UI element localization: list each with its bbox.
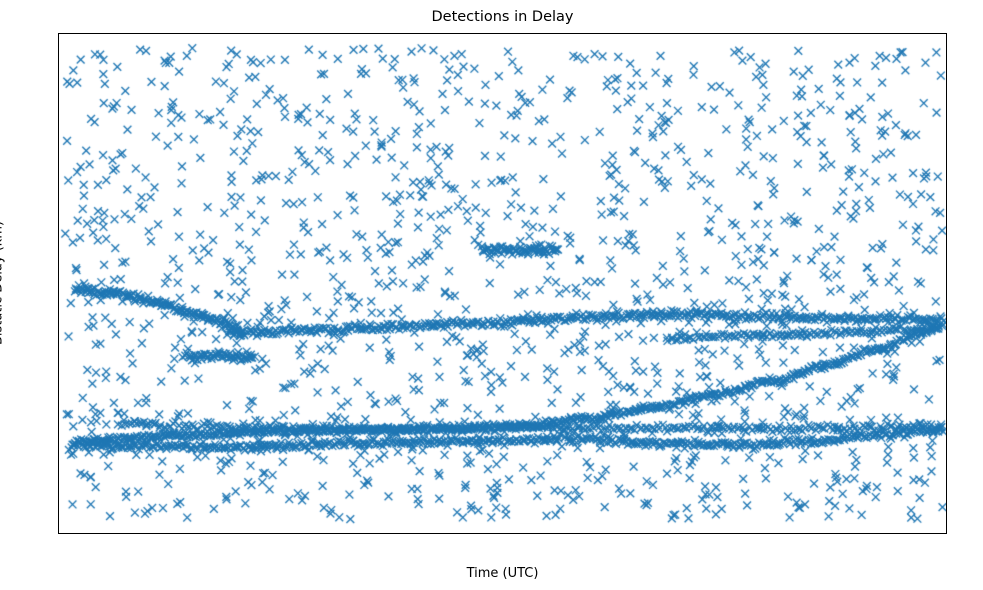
y-tick-60: 60 [58, 42, 59, 57]
x-tick-mark [254, 533, 255, 534]
y-tick-50: 50 [58, 121, 59, 136]
x-axis-label: Time (UTC) [58, 566, 947, 581]
x-tick-mark [579, 533, 580, 534]
y-tick-mark [58, 286, 59, 287]
y-tick-30: 30 [58, 279, 59, 294]
x-tick-mark [416, 533, 417, 534]
x-tick-mark [91, 533, 92, 534]
y-tick-mark [58, 522, 59, 523]
y-tick-0: 0 [58, 515, 59, 530]
y-tick-mark [58, 364, 59, 365]
y-tick-10: 10 [58, 436, 59, 451]
x-tick-5: 2025-04-07 00:59:00 [836, 533, 947, 534]
plot-area: 0102030405060 2025-04-07 00:54:002025-04… [58, 33, 947, 534]
y-tick-mark [58, 207, 59, 208]
x-tick-3: 2025-04-07 00:57:00 [510, 533, 648, 534]
x-tick-1: 2025-04-07 00:55:00 [185, 533, 323, 534]
x-tick-4: 2025-04-07 00:58:00 [673, 533, 811, 534]
y-tick-20: 20 [58, 357, 59, 372]
x-tick-mark [741, 533, 742, 534]
y-axis-label: Bistatic Delay (km) [0, 221, 6, 345]
y-tick-mark [58, 49, 59, 50]
x-tick-0: 2025-04-07 00:54:00 [58, 533, 161, 534]
matplotlib-figure: Detections in Delay 0102030405060 2025-0… [0, 0, 983, 590]
x-tick-2: 2025-04-07 00:56:00 [348, 533, 486, 534]
scatter-plot-canvas [59, 34, 947, 534]
y-tick-40: 40 [58, 200, 59, 215]
x-tick-mark [904, 533, 905, 534]
y-tick-mark [58, 443, 59, 444]
page-title: Detections in Delay [58, 8, 947, 26]
y-tick-mark [58, 128, 59, 129]
